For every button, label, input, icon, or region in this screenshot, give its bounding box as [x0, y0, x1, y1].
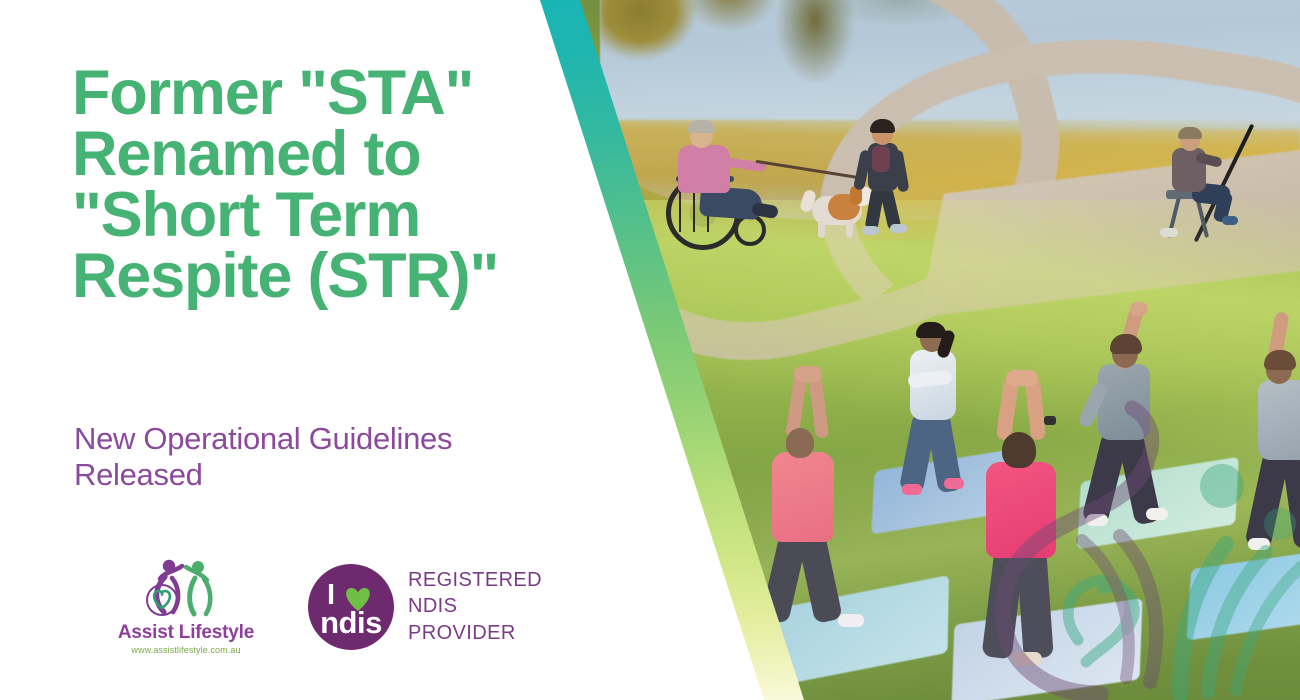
assist-lifestyle-logo[interactable]: Assist Lifestyle www.assistlifestyle.com… — [110, 558, 262, 655]
logo-row: Assist Lifestyle www.assistlifestyle.com… — [110, 558, 542, 655]
assist-lifestyle-url[interactable]: www.assistlifestyle.com.au — [131, 645, 240, 655]
yoga-person-hands — [1006, 370, 1038, 386]
ndis-text-line-2: NDIS — [408, 593, 542, 619]
yoga-person-shoe — [902, 484, 922, 495]
dog-leg — [846, 220, 853, 238]
yoga-person-foot — [1248, 538, 1270, 550]
fisherman-shoe — [1222, 216, 1238, 225]
yoga-person-torso — [986, 462, 1056, 558]
yoga-person-hands — [794, 366, 822, 382]
ndis-text-line-1: REGISTERED — [408, 567, 542, 593]
headline-line-2: Renamed to — [72, 124, 572, 185]
yoga-person-foot — [1086, 514, 1108, 526]
subtitle-line-1: New Operational Guidelines — [74, 421, 614, 457]
fisherman-hair — [1178, 127, 1202, 139]
child-shirt-detail — [872, 146, 890, 172]
wheelchair-user-torso — [678, 145, 730, 193]
assist-lifestyle-name: Assist Lifestyle — [118, 622, 254, 644]
yoga-person-hair — [1264, 350, 1296, 370]
yoga-person-torso — [1258, 380, 1300, 460]
yoga-person-torso — [772, 452, 834, 542]
promotional-banner: Former "STA" Renamed to "Short Term Resp… — [0, 0, 1300, 700]
ndis-wordmark: ndis — [308, 607, 394, 638]
yoga-person-hand — [1130, 302, 1148, 316]
page-subtitle: New Operational Guidelines Released — [74, 421, 614, 494]
ndis-logo-circle: I ndis — [308, 564, 394, 650]
wheelchair-user-hair — [688, 120, 715, 133]
yoga-person-head — [786, 428, 814, 458]
yoga-person-shoe — [944, 478, 964, 489]
ndis-text-line-3: PROVIDER — [408, 620, 542, 646]
dog-leg — [818, 220, 825, 238]
child-shoe — [862, 226, 879, 235]
subtitle-line-2: Released — [74, 457, 614, 493]
yoga-person-foot — [838, 614, 864, 627]
yoga-person-hair — [1110, 334, 1142, 354]
yoga-person-watch — [1044, 416, 1056, 425]
child-hair — [870, 119, 895, 133]
ndis-provider-text: REGISTERED NDIS PROVIDER — [408, 567, 542, 646]
ndis-registered-provider-badge[interactable]: I ndis REGISTERED NDIS PROVIDER — [308, 564, 542, 650]
headline-line-1: Former "STA" — [72, 63, 572, 124]
yoga-person-foot — [1012, 652, 1042, 666]
left-content-panel: Former "STA" Renamed to "Short Term Resp… — [0, 0, 560, 700]
headline-line-3: "Short Term — [72, 185, 572, 246]
fisherman-foot — [1160, 228, 1178, 237]
yoga-person-head — [1002, 432, 1036, 468]
headline-line-4: Respite (STR)" — [72, 246, 572, 307]
assist-lifestyle-logo-icon — [138, 558, 234, 620]
yoga-person-foot — [1146, 508, 1168, 520]
yoga-person-torso — [1098, 364, 1150, 440]
page-title: Former "STA" Renamed to "Short Term Resp… — [72, 63, 572, 307]
child-shoe — [890, 224, 907, 233]
